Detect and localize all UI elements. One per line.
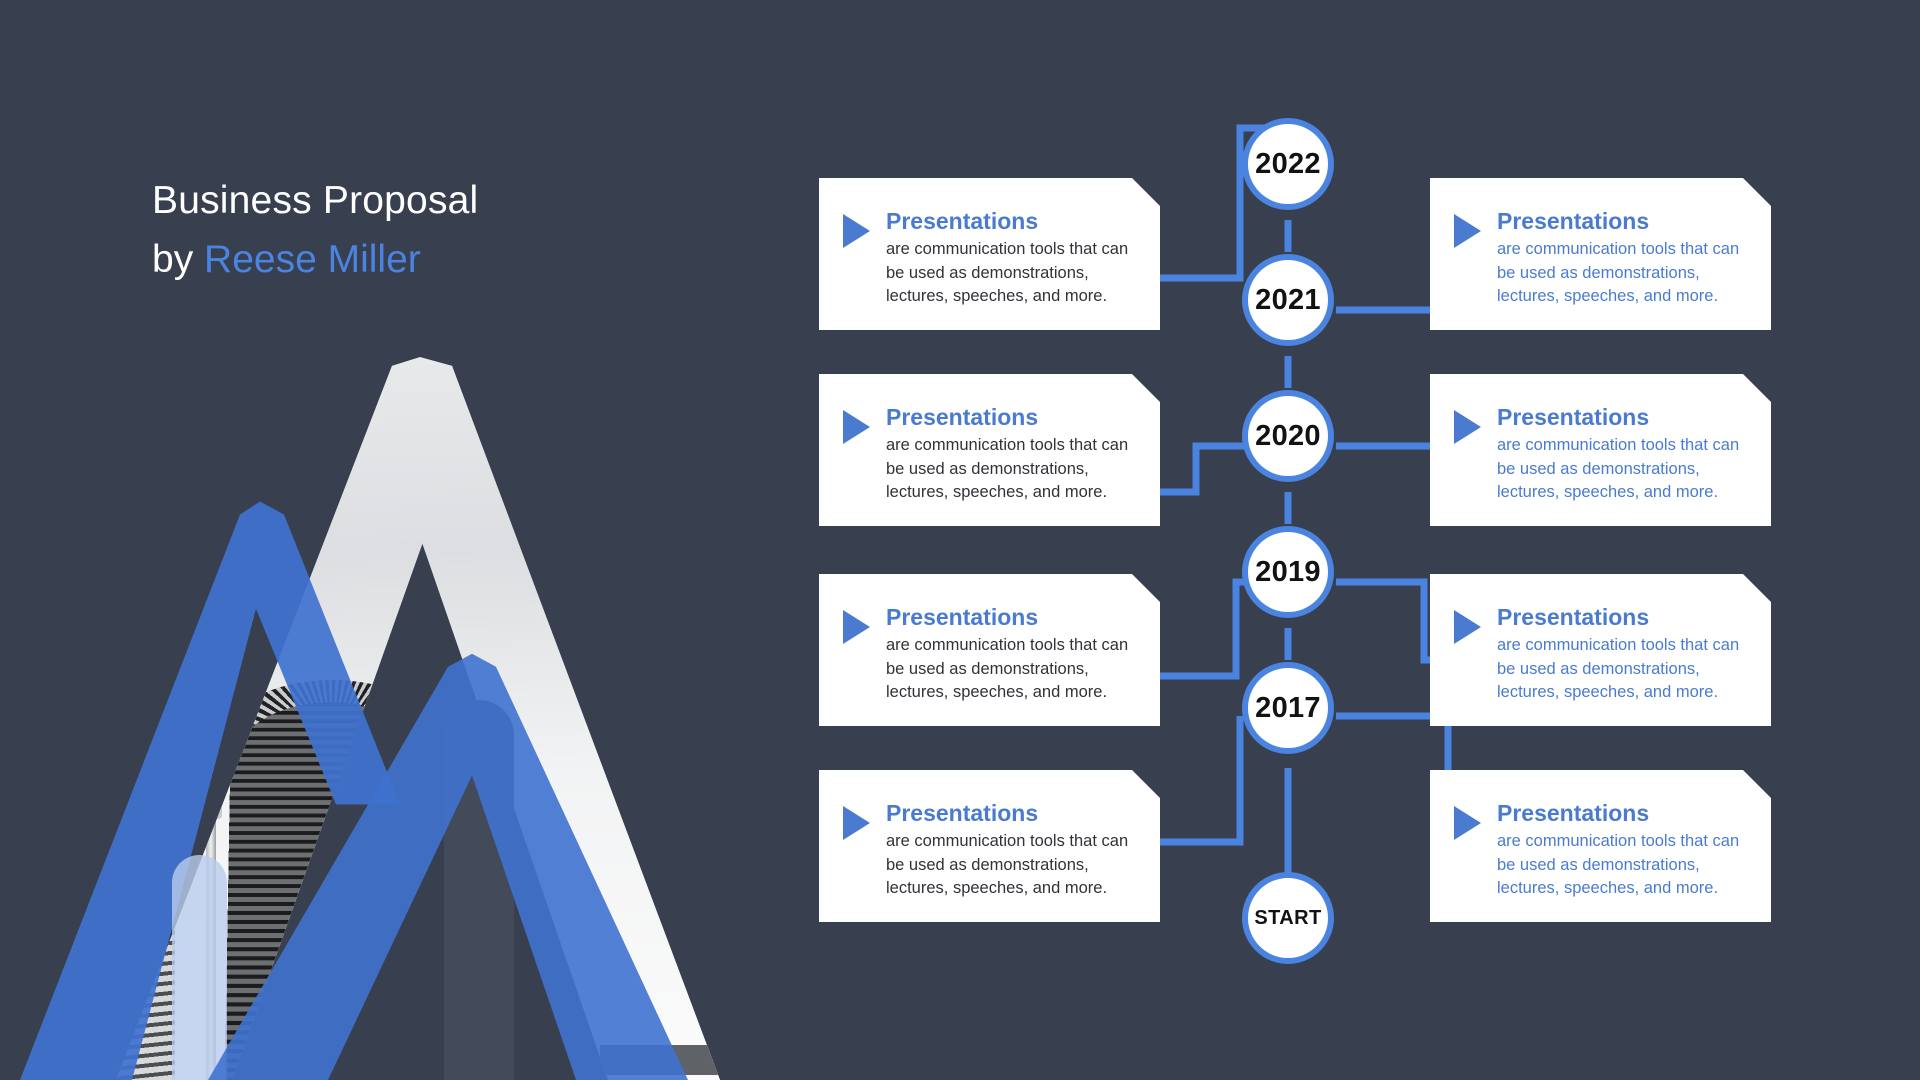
card-text: Presentations are communication tools th… — [1497, 800, 1745, 892]
card-text: Presentations are communication tools th… — [1497, 404, 1745, 496]
card-heading: Presentations — [1497, 404, 1745, 430]
card-body: are communication tools that can be used… — [1497, 634, 1745, 704]
card-heading: Presentations — [1497, 800, 1745, 826]
timeline-card[interactable]: Presentations are communication tools th… — [1430, 178, 1771, 330]
card-body: are communication tools that can be used… — [886, 238, 1134, 308]
card-body: are communication tools that can be used… — [1497, 434, 1745, 504]
timeline-node-2019[interactable]: 2019 — [1242, 526, 1334, 618]
card-heading: Presentations — [886, 404, 1134, 430]
card-heading: Presentations — [886, 800, 1134, 826]
play-triangle-icon — [843, 806, 870, 840]
card-heading: Presentations — [1497, 604, 1745, 630]
card-heading: Presentations — [886, 208, 1134, 234]
timeline-node-label: 2017 — [1255, 692, 1321, 725]
timeline-node-label: 2019 — [1255, 556, 1321, 589]
page-title: Business Proposal — [152, 175, 712, 226]
light-blue-rounded-bar — [172, 855, 227, 1080]
timeline-card[interactable]: Presentations are communication tools th… — [1430, 374, 1771, 526]
play-triangle-icon — [1454, 806, 1481, 840]
card-body: are communication tools that can be used… — [886, 634, 1134, 704]
timeline-card[interactable]: Presentations are communication tools th… — [819, 574, 1160, 726]
card-text: Presentations are communication tools th… — [886, 208, 1134, 300]
card-text: Presentations are communication tools th… — [1497, 208, 1745, 300]
timeline-card[interactable]: Presentations are communication tools th… — [819, 374, 1160, 526]
card-body: are communication tools that can be used… — [1497, 238, 1745, 308]
play-triangle-icon — [843, 410, 870, 444]
timeline-card[interactable]: Presentations are communication tools th… — [1430, 574, 1771, 726]
play-triangle-icon — [843, 610, 870, 644]
timeline-node-label: 2020 — [1255, 420, 1321, 453]
play-triangle-icon — [1454, 610, 1481, 644]
timeline-node-label: START — [1254, 907, 1321, 930]
card-body: are communication tools that can be used… — [886, 830, 1134, 900]
card-body: are communication tools that can be used… — [1497, 830, 1745, 900]
card-heading: Presentations — [886, 604, 1134, 630]
byline: by Reese Miller — [152, 234, 712, 285]
slide-canvas: Business Proposal by Reese Miller — [0, 0, 1920, 1080]
timeline-node-2022[interactable]: 2022 — [1242, 118, 1334, 210]
card-text: Presentations are communication tools th… — [1497, 604, 1745, 696]
byline-prefix: by — [152, 238, 204, 281]
timeline-card[interactable]: Presentations are communication tools th… — [819, 770, 1160, 922]
title-block: Business Proposal by Reese Miller — [152, 175, 712, 286]
author-name: Reese Miller — [204, 238, 421, 281]
timeline-node-start[interactable]: START — [1242, 872, 1334, 964]
card-text: Presentations are communication tools th… — [886, 800, 1134, 892]
timeline-node-2017[interactable]: 2017 — [1242, 662, 1334, 754]
timeline: 2022 2021 2020 2019 2017 START Presentat… — [800, 0, 1920, 1080]
timeline-card[interactable]: Presentations are communication tools th… — [1430, 770, 1771, 922]
play-triangle-icon — [1454, 410, 1481, 444]
timeline-node-label: 2021 — [1255, 284, 1321, 317]
card-text: Presentations are communication tools th… — [886, 404, 1134, 496]
card-text: Presentations are communication tools th… — [886, 604, 1134, 696]
left-panel: Business Proposal by Reese Miller — [0, 0, 800, 1080]
skyscraper-chevron-graphic — [0, 355, 800, 1080]
play-triangle-icon — [843, 214, 870, 248]
play-triangle-icon — [1454, 214, 1481, 248]
timeline-node-label: 2022 — [1255, 148, 1321, 181]
timeline-node-2020[interactable]: 2020 — [1242, 390, 1334, 482]
card-body: are communication tools that can be used… — [886, 434, 1134, 504]
timeline-node-2021[interactable]: 2021 — [1242, 254, 1334, 346]
card-heading: Presentations — [1497, 208, 1745, 234]
timeline-card[interactable]: Presentations are communication tools th… — [819, 178, 1160, 330]
